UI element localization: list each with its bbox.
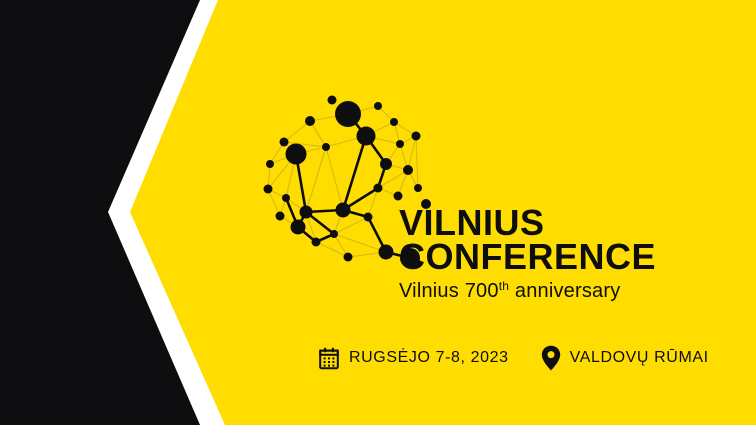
event-date-item: RUGSĖJO 7-8, 2023 — [318, 347, 509, 370]
tagline-suffix: anniversary — [509, 280, 620, 302]
tagline-superscript: th — [499, 279, 509, 293]
event-venue-item: VALDOVŲ RŪMAI — [541, 345, 709, 371]
tagline: Vilnius 700th anniversary — [399, 279, 739, 303]
event-meta-bar: RUGSĖJO 7-8, 2023 VALDOVŲ RŪMAI — [318, 345, 709, 371]
title-line-conference: CONFERENCE — [399, 240, 739, 273]
calendar-icon — [318, 347, 340, 370]
event-date-label: RUGSĖJO 7-8, 2023 — [349, 349, 509, 367]
map-pin-icon — [541, 345, 561, 371]
tagline-prefix: Vilnius 700 — [399, 280, 499, 302]
title-line-vilnius: VILNIUS — [399, 206, 739, 239]
conference-poster: VILNIUS CONFERENCE Vilnius 700th anniver… — [0, 0, 756, 425]
strong-edges — [286, 114, 410, 258]
faint-edges — [268, 106, 418, 257]
title-lockup: VILNIUS CONFERENCE Vilnius 700th anniver… — [399, 206, 739, 303]
event-venue-label: VALDOVŲ RŪMAI — [570, 349, 709, 367]
